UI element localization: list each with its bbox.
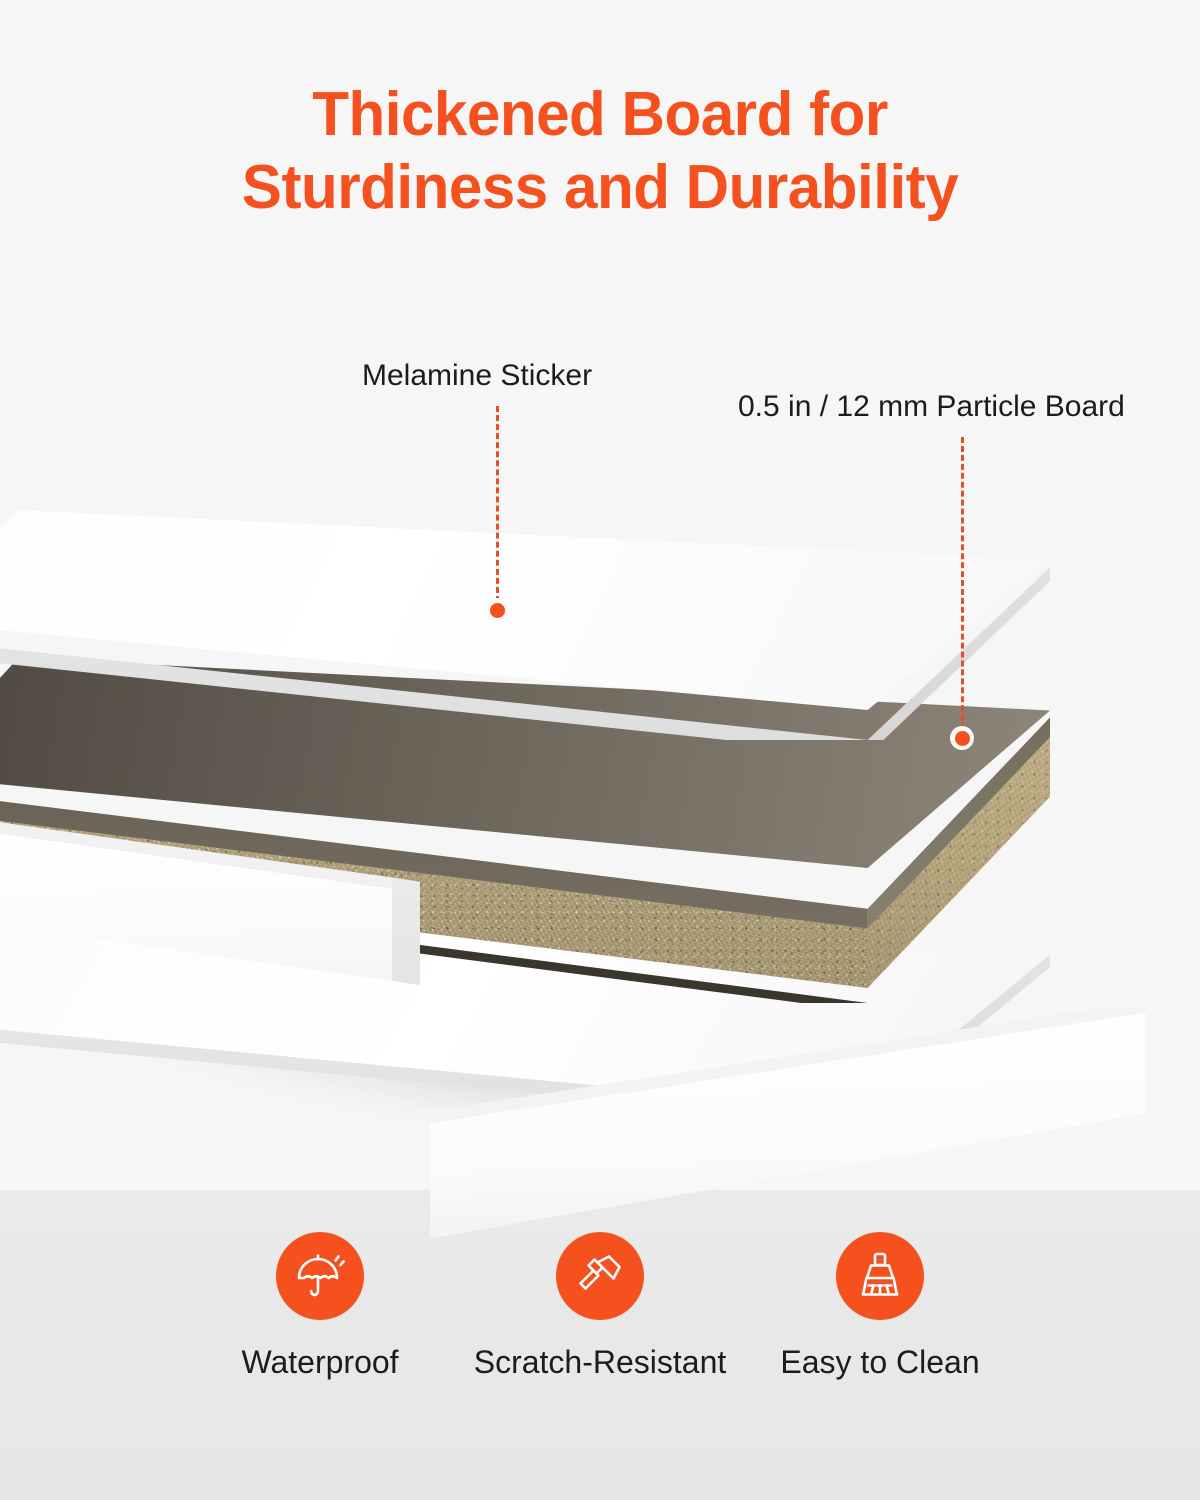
feature-badge-easy-to-clean xyxy=(836,1232,924,1320)
callout-label-melamine-sticker: Melamine Sticker xyxy=(362,358,592,394)
broom-icon xyxy=(852,1248,908,1304)
leader-line-melamine-sticker xyxy=(496,406,499,602)
leader-dot-melamine-sticker xyxy=(485,598,509,622)
feature-easy-to-clean: Easy to Clean xyxy=(740,1232,1020,1381)
feature-label-waterproof: Waterproof xyxy=(241,1344,398,1381)
callout-label-particle-board: 0.5 in / 12 mm Particle Board xyxy=(738,389,1125,425)
feature-scratch-resistant: Scratch-Resistant xyxy=(460,1232,740,1381)
page-title: Thickened Board for Sturdiness and Durab… xyxy=(18,78,1182,224)
page-title-line-2: Sturdiness and Durability xyxy=(18,151,1182,224)
feature-badge-scratch-resistant xyxy=(556,1232,644,1320)
feature-label-scratch-resistant: Scratch-Resistant xyxy=(474,1344,727,1381)
umbrella-icon xyxy=(292,1248,348,1304)
feature-row: Waterproof Scratch-Resistant xyxy=(0,1232,1200,1381)
feature-badge-waterproof xyxy=(276,1232,364,1320)
feature-waterproof: Waterproof xyxy=(180,1232,460,1381)
feature-label-easy-to-clean: Easy to Clean xyxy=(780,1344,979,1381)
page-title-line-1: Thickened Board for xyxy=(18,78,1182,151)
leader-line-particle-board xyxy=(961,437,964,729)
hammer-icon xyxy=(572,1248,628,1304)
board-cross-section-illustration xyxy=(0,470,1200,1170)
leader-dot-particle-board xyxy=(950,726,974,750)
